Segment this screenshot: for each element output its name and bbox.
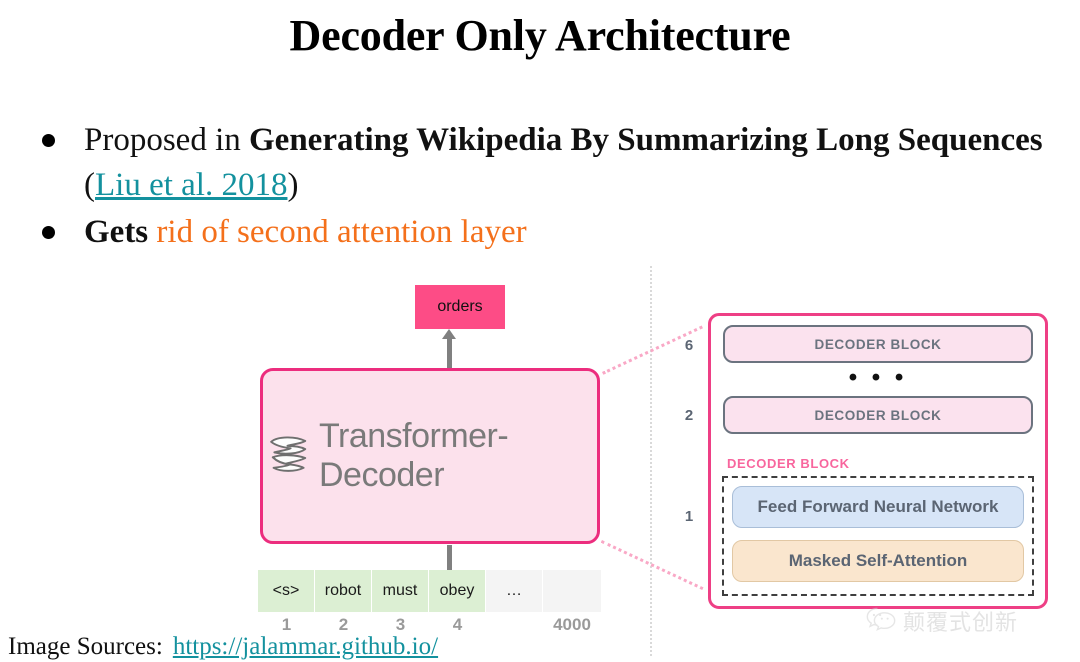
image-sources-label: Image Sources:	[8, 633, 163, 660]
wechat-icon	[866, 606, 896, 637]
output-token-box: orders	[415, 285, 505, 329]
transformer-decoder-box: Transformer-Decoder	[260, 368, 600, 544]
citation-link[interactable]: Liu et al. 2018	[95, 167, 287, 203]
zoom-connector-bottom	[601, 540, 704, 590]
image-sources-link[interactable]: https://jalammar.github.io/	[173, 633, 438, 660]
output-token-label: orders	[437, 298, 482, 316]
token-index: 1	[258, 615, 315, 635]
bullet-list: Proposed in Generating Wikipedia By Summ…	[42, 118, 1062, 257]
expanded-decoder-block-caption: DECODER BLOCK	[727, 456, 850, 471]
token-index: 4	[429, 615, 486, 635]
slide-canvas: Decoder Only Architecture Proposed in Ge…	[0, 0, 1080, 662]
token-cell: <s>	[258, 570, 314, 612]
input-connector-line	[447, 545, 452, 573]
token-cell: obey	[429, 570, 485, 612]
list-item: Gets rid of second attention layer	[42, 210, 1062, 255]
layer-number-6: 6	[679, 337, 699, 354]
transformer-brand: Transformer-Decoder	[263, 417, 597, 495]
masked-self-attention-sublayer: Masked Self-Attention	[732, 540, 1024, 582]
transformer-decoder-label: Transformer-Decoder	[319, 417, 597, 495]
stack-ellipsis-icon: • • •	[723, 368, 1033, 388]
transformer-swirl-logo-icon	[263, 428, 315, 485]
token-index-last: 4000	[543, 615, 601, 635]
decoder-block-label: DECODER BLOCK	[814, 408, 941, 423]
bullet-text-1: Proposed in Generating Wikipedia By Summ…	[84, 118, 1062, 208]
bullet-2-highlight: rid of second attention layer	[156, 214, 526, 250]
token-index: 3	[372, 615, 429, 635]
token-index: 2	[315, 615, 372, 635]
image-sources-footer: Image Sources:https://jalammar.github.io…	[8, 633, 438, 661]
bullet-2-lead: Gets	[84, 214, 156, 250]
bullet-dot-icon	[42, 134, 55, 147]
bullet-1-lead: Proposed in	[84, 122, 249, 158]
expanded-decoder-block: Feed Forward Neural Network Masked Self-…	[722, 476, 1034, 596]
bullet-dot-icon	[42, 226, 55, 239]
feed-forward-sublayer: Feed Forward Neural Network	[732, 486, 1024, 528]
token-cell-ellipsis: …	[486, 570, 542, 612]
watermark-text: 颠覆式创新	[903, 605, 1018, 637]
decoder-block-second: DECODER BLOCK	[723, 396, 1033, 434]
paper-title: Generating Wikipedia By Summarizing Long…	[249, 122, 1043, 158]
list-item: Proposed in Generating Wikipedia By Summ…	[42, 118, 1062, 208]
bullet-text-2: Gets rid of second attention layer	[84, 210, 1062, 255]
token-cell: robot	[315, 570, 371, 612]
masked-self-attention-label: Masked Self-Attention	[789, 551, 968, 571]
decoder-block-top: DECODER BLOCK	[723, 325, 1033, 363]
slide-guide-line	[650, 266, 652, 656]
token-index-gap	[486, 615, 543, 635]
layer-number-1: 1	[679, 508, 699, 525]
token-index-row: 1 2 3 4 4000	[258, 615, 601, 635]
decoder-block-label: DECODER BLOCK	[814, 337, 941, 352]
page-title: Decoder Only Architecture	[0, 8, 1080, 64]
bullet-1-paren-close: )	[287, 167, 298, 203]
feed-forward-label: Feed Forward Neural Network	[758, 497, 999, 517]
bullet-1-paren-open: (	[84, 167, 95, 203]
layer-number-2: 2	[679, 407, 699, 424]
token-cell: must	[372, 570, 428, 612]
token-cell-empty	[543, 570, 601, 612]
output-arrow-up-icon	[447, 338, 452, 368]
watermark: 颠覆式创新	[866, 605, 1018, 637]
input-token-row: <s> robot must obey …	[258, 570, 602, 612]
